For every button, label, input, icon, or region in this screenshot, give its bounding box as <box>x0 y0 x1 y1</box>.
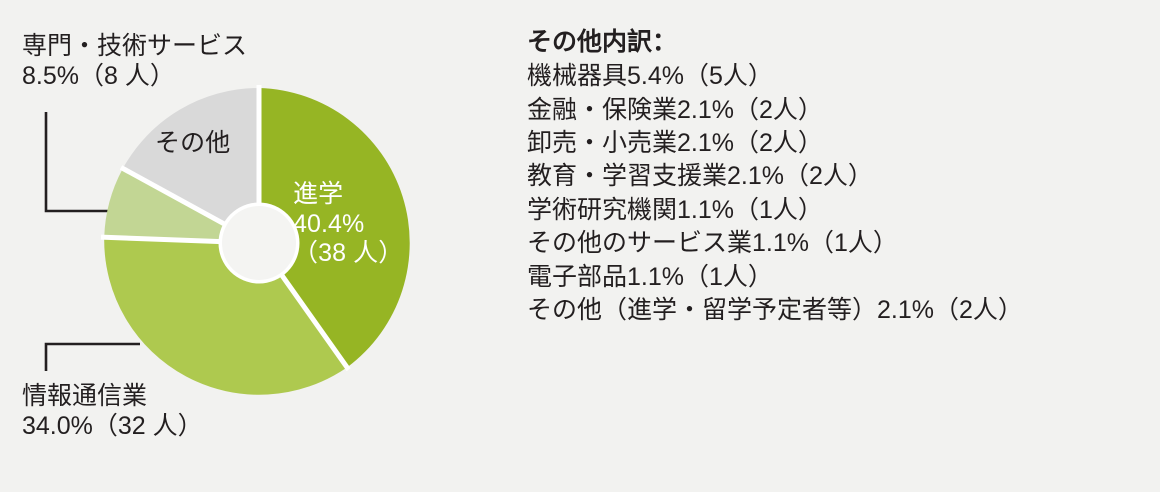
donut-center-hole-inner <box>222 206 296 280</box>
slice-label-sonota: その他 <box>155 129 230 159</box>
leader-line-joho <box>46 344 140 371</box>
breakdown-item: その他のサービス業1.1%（1人） <box>527 227 1127 260</box>
callout-label-senmon: 専門・技術サービス 8.5%（8 人） <box>22 31 247 91</box>
breakdown-list: 機械器具5.4%（5人） 金融・保険業2.1%（2人） 卸売・小売業2.1%（2… <box>527 60 1127 327</box>
donut-chart: 進学 40.4% （38 人） その他 専門・技術サービス 8.5%（8 人） … <box>0 0 500 492</box>
breakdown-item: 電子部品1.1%（1人） <box>527 261 1127 294</box>
callout-label-joho: 情報通信業 34.0%（32 人） <box>22 381 203 441</box>
breakdown-item: 金融・保険業2.1%（2人） <box>527 94 1127 127</box>
leader-line-senmon <box>46 112 112 211</box>
breakdown-item: 教育・学習支援業2.1%（2人） <box>527 160 1127 193</box>
breakdown-item: 機械器具5.4%（5人） <box>527 60 1127 93</box>
breakdown-title: その他内訳： <box>527 26 1127 59</box>
breakdown-item: その他（進学・留学予定者等）2.1%（2人） <box>527 294 1127 327</box>
slice-label-shingaku: 進学 40.4% （38 人） <box>293 180 403 269</box>
breakdown-panel: その他内訳： 機械器具5.4%（5人） 金融・保険業2.1%（2人） 卸売・小売… <box>527 26 1127 327</box>
breakdown-item: 学術研究機関1.1%（1人） <box>527 194 1127 227</box>
breakdown-item: 卸売・小売業2.1%（2人） <box>527 127 1127 160</box>
infographic-root: 進学 40.4% （38 人） その他 専門・技術サービス 8.5%（8 人） … <box>0 0 1160 492</box>
